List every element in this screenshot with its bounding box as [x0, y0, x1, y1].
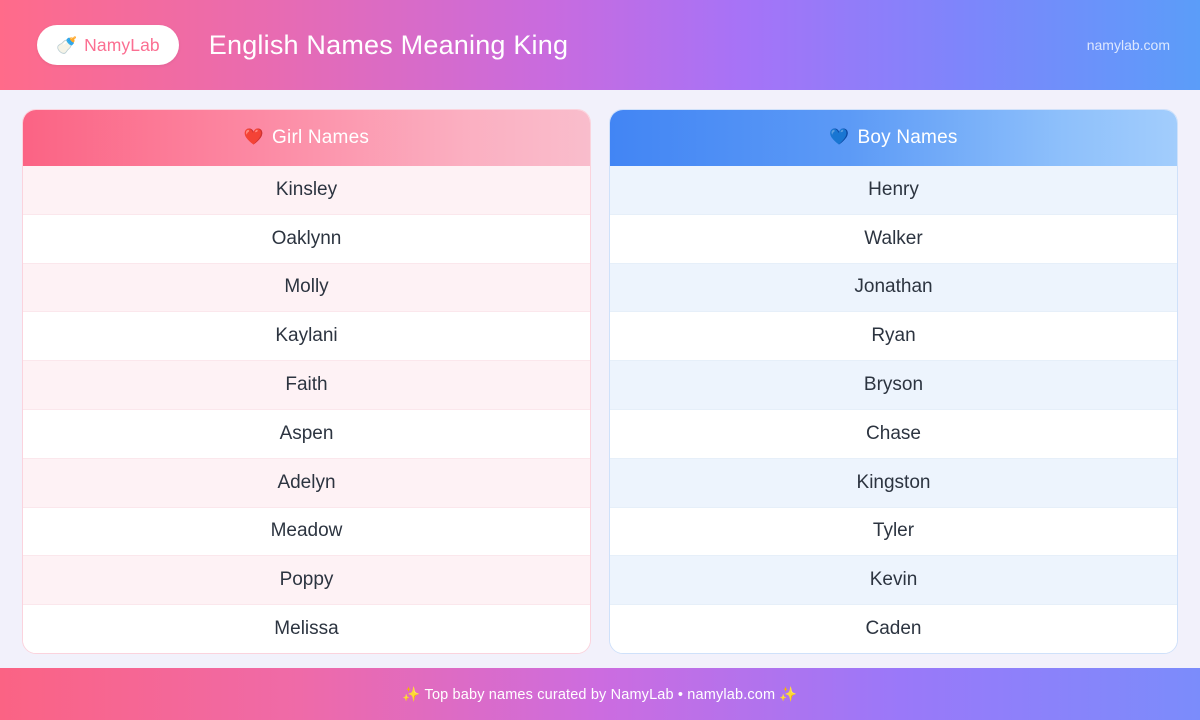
page-title: English Names Meaning King — [209, 30, 568, 61]
list-item[interactable]: Henry — [610, 166, 1177, 215]
girl-names-card: ❤️ Girl Names Kinsley Oaklynn Molly Kayl… — [22, 109, 591, 654]
blue-heart-icon: 💙 — [829, 130, 849, 146]
list-item[interactable]: Aspen — [23, 410, 590, 459]
list-item[interactable]: Kinsley — [23, 166, 590, 215]
site-url-label: namylab.com — [1087, 37, 1170, 53]
girl-names-card-header: ❤️ Girl Names — [23, 110, 590, 166]
main-content: ❤️ Girl Names Kinsley Oaklynn Molly Kayl… — [0, 90, 1200, 668]
list-item[interactable]: Adelyn — [23, 459, 590, 508]
list-item[interactable]: Molly — [23, 264, 590, 313]
list-item[interactable]: Chase — [610, 410, 1177, 459]
page-footer: ✨ Top baby names curated by NamyLab • na… — [0, 668, 1200, 720]
boy-names-card: 💙 Boy Names Henry Walker Jonathan Ryan B… — [609, 109, 1178, 654]
list-item[interactable]: Jonathan — [610, 264, 1177, 313]
brand-badge[interactable]: 🍼 NamyLab — [37, 25, 179, 65]
footer-credit-label: ✨ Top baby names curated by NamyLab • na… — [402, 686, 797, 703]
list-item[interactable]: Bryson — [610, 361, 1177, 410]
girl-names-card-title: Girl Names — [272, 127, 369, 149]
boy-names-card-header: 💙 Boy Names — [610, 110, 1177, 166]
list-item[interactable]: Melissa — [23, 605, 590, 653]
list-item[interactable]: Kingston — [610, 459, 1177, 508]
list-item[interactable]: Ryan — [610, 312, 1177, 361]
list-item[interactable]: Faith — [23, 361, 590, 410]
list-item[interactable]: Walker — [610, 215, 1177, 264]
girl-names-list: Kinsley Oaklynn Molly Kaylani Faith Aspe… — [23, 166, 590, 653]
page-root: 🍼 NamyLab English Names Meaning King nam… — [0, 0, 1200, 720]
list-item[interactable]: Kaylani — [23, 312, 590, 361]
list-item[interactable]: Kevin — [610, 556, 1177, 605]
list-item[interactable]: Tyler — [610, 508, 1177, 557]
boy-names-list: Henry Walker Jonathan Ryan Bryson Chase … — [610, 166, 1177, 653]
list-item[interactable]: Meadow — [23, 508, 590, 557]
baby-bottle-icon: 🍼 — [56, 37, 77, 54]
list-item[interactable]: Caden — [610, 605, 1177, 653]
heart-icon: ❤️ — [244, 130, 264, 146]
page-header: 🍼 NamyLab English Names Meaning King nam… — [0, 0, 1200, 90]
boy-names-card-title: Boy Names — [858, 127, 958, 149]
list-item[interactable]: Poppy — [23, 556, 590, 605]
brand-name-label: NamyLab — [84, 35, 160, 56]
list-item[interactable]: Oaklynn — [23, 215, 590, 264]
